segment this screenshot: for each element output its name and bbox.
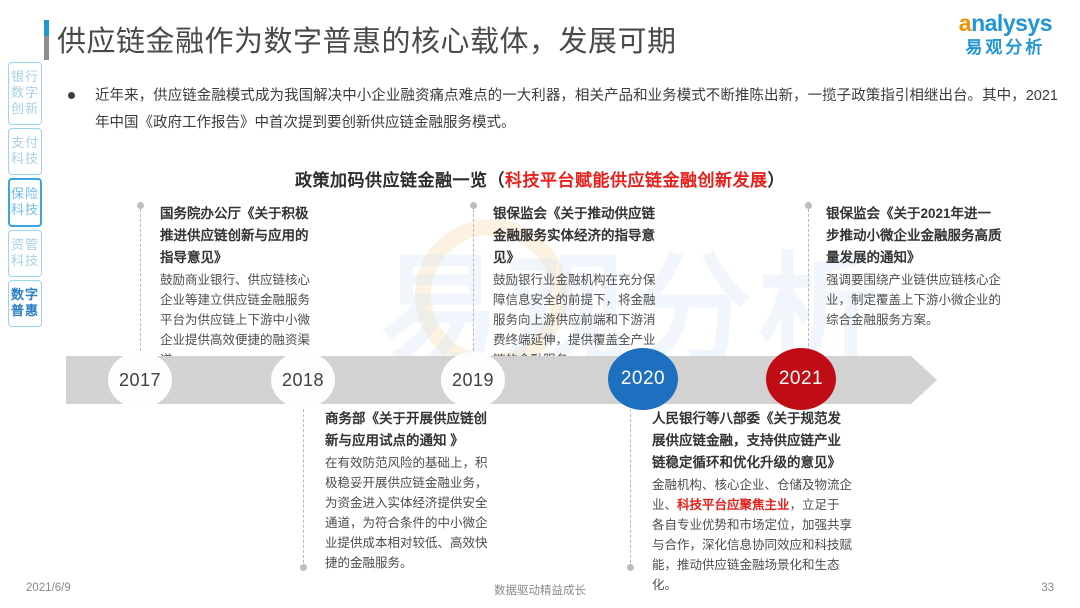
- sidebar-nav: 银行数字创新 支付科技 保险科技 资管科技 数字普惠: [8, 62, 42, 330]
- policy-card-title: 银保监会《关于2021年进一步推动小微企业金融服务高质量发展的通知》: [826, 203, 1002, 269]
- policy-body-highlight: 科技平台应聚焦主业: [677, 498, 790, 512]
- connector-2019: [473, 204, 474, 356]
- connector-2018: [303, 404, 304, 568]
- timeline-node-label: 2017: [119, 370, 161, 391]
- sidebar-item-label: 资管科技: [9, 237, 41, 269]
- analysys-logo: analysys 易观分析: [959, 12, 1052, 56]
- sidebar-item-label: 支付科技: [9, 135, 41, 167]
- policy-card-title: 银保监会《关于推动供应链金融服务实体经济的指导意见》: [493, 203, 659, 269]
- page-title: 供应链金融作为数字普惠的核心载体，发展可期: [57, 18, 677, 60]
- policy-body-post: ，立足于各自专业优势和市场定位，加强共享与合作，深化信息协同效应和科技赋能，推动…: [652, 498, 852, 592]
- timeline-arrow-head-icon: [911, 356, 937, 404]
- policy-card-2018: 商务部《关于开展供应链创新与应用试点的通知 》 在有效防范风险的基础上，积极稳妥…: [325, 408, 497, 573]
- slide-footer: 2021/6/9 数据驱动精益成长 33: [0, 582, 1080, 600]
- footer-page-number: 33: [1041, 582, 1054, 594]
- policy-card-body: 强调要围绕产业链供应链核心企业，制定覆盖上下游小微企业的综合金融服务方案。: [826, 270, 1002, 330]
- section-subtitle: 政策加码供应链金融一览（科技平台赋能供应链金融创新发展）: [0, 166, 1080, 191]
- connector-2017: [140, 204, 141, 356]
- connector-2020: [630, 404, 631, 568]
- logo-chinese-name: 易观分析: [959, 39, 1052, 56]
- connector-dot-2021-top: [805, 202, 812, 209]
- timeline-node-label: 2020: [621, 368, 665, 390]
- policy-card-2021-top: 银保监会《关于2021年进一步推动小微企业金融服务高质量发展的通知》 强调要围绕…: [826, 203, 1002, 330]
- logo-letter-a: a: [959, 10, 971, 36]
- subtitle-tail: ）: [768, 171, 786, 190]
- connector-dot-2019: [470, 202, 477, 209]
- timeline-node-2020[interactable]: 2020: [608, 348, 678, 410]
- sidebar-item-label: 银行数字创新: [9, 69, 41, 117]
- policy-card-title: 商务部《关于开展供应链创新与应用试点的通知 》: [325, 408, 497, 452]
- policy-card-2017: 国务院办公厅《关于积极推进供应链创新与应用的指导意见》 鼓励商业银行、供应链核心…: [160, 203, 320, 370]
- timeline-node-2019[interactable]: 2019: [441, 352, 505, 408]
- sidebar-item-banking[interactable]: 银行数字创新: [8, 62, 42, 125]
- connector-2021-top: [808, 204, 809, 356]
- subtitle-highlight: 科技平台赋能供应链金融创新发展: [505, 171, 768, 190]
- sidebar-item-digital-inclusive[interactable]: 数字普惠: [8, 280, 42, 327]
- policy-card-title: 人民银行等八部委《关于规范发展供应链金融，支持供应链产业链稳定循环和优化升级的意…: [652, 408, 852, 474]
- timeline-node-label: 2021: [779, 368, 823, 390]
- bullet-dot-icon: [68, 92, 75, 99]
- policy-card-body: 金融机构、核心企业、仓储及物流企业、科技平台应聚焦主业，立足于各自专业优势和市场…: [652, 475, 852, 595]
- sidebar-item-label: 数字普惠: [9, 287, 41, 319]
- policy-card-title: 国务院办公厅《关于积极推进供应链创新与应用的指导意见》: [160, 203, 320, 269]
- slide-root: 易观分析 供应链金融作为数字普惠的核心载体，发展可期 analysys 易观分析…: [0, 0, 1080, 608]
- timeline-node-2021[interactable]: 2021: [766, 348, 836, 410]
- timeline-node-2017[interactable]: 2017: [108, 352, 172, 408]
- logo-letters-rest: nalysys: [971, 10, 1052, 36]
- timeline-node-2018[interactable]: 2018: [271, 352, 335, 408]
- policy-card-2020: 人民银行等八部委《关于规范发展供应链金融，支持供应链产业链稳定循环和优化升级的意…: [652, 408, 852, 595]
- logo-wordmark: analysys: [959, 12, 1052, 35]
- connector-dot-2017: [137, 202, 144, 209]
- title-accent-bar: [44, 20, 49, 60]
- policy-card-2019: 银保监会《关于推动供应链金融服务实体经济的指导意见》 鼓励银行业金融机构在充分保…: [493, 203, 659, 370]
- subtitle-main: 政策加码供应链金融一览（: [295, 171, 505, 190]
- policy-card-body: 在有效防范风险的基础上，积极稳妥开展供应链金融业务，为资金进入实体经济提供安全通…: [325, 453, 497, 573]
- timeline-node-label: 2019: [452, 370, 494, 391]
- footer-tagline: 数据驱动精益成长: [0, 582, 1080, 598]
- timeline-node-label: 2018: [282, 370, 324, 391]
- connector-dot-2020: [627, 564, 634, 571]
- sidebar-item-asset-mgmt[interactable]: 资管科技: [8, 230, 42, 277]
- bullet-text: 近年来，供应链金融模式成为我国解决中小企业融资痛点难点的一大利器，相关产品和业务…: [95, 83, 1058, 137]
- bullet-paragraph: 近年来，供应链金融模式成为我国解决中小企业融资痛点难点的一大利器，相关产品和业务…: [68, 83, 1058, 137]
- connector-dot-2018: [300, 564, 307, 571]
